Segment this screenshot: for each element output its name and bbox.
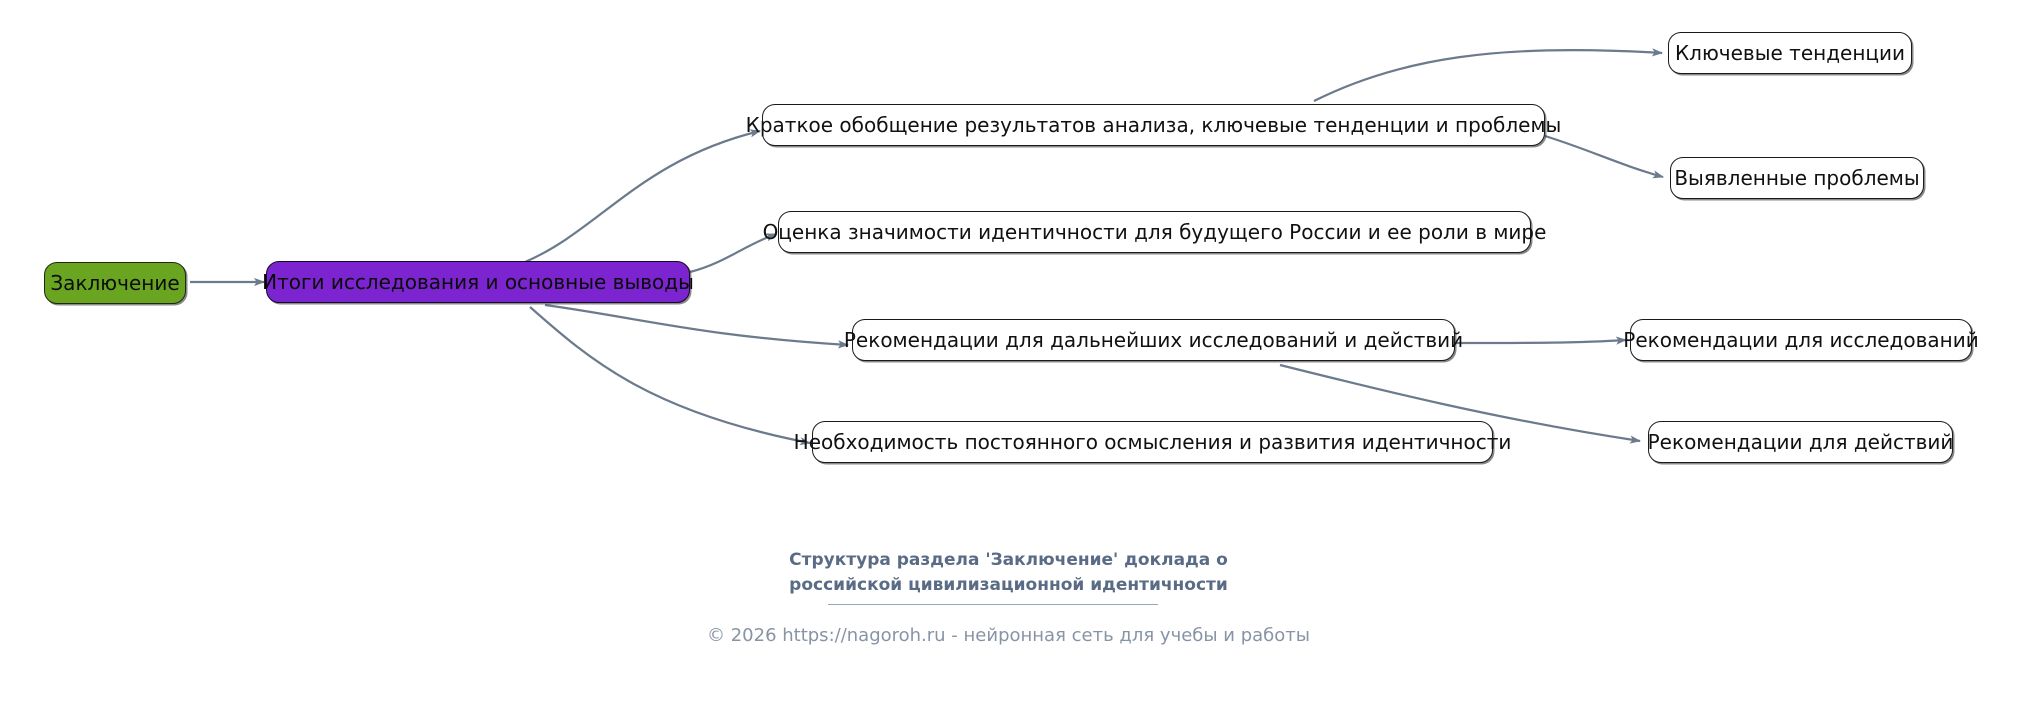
node-rekomendacii-issledovaniy[interactable]: Рекомендации для исследований [1630,319,1972,361]
diagram-caption: Структура раздела 'Заключение' доклада о… [0,548,2017,597]
node-root-zaklyuchenie[interactable]: Заключение [44,262,186,304]
node-vyyavlennye-problemy[interactable]: Выявленные проблемы [1670,157,1924,199]
node-label: Ключевые тенденции [1675,43,1905,63]
edge-b1-to-c2 [1545,136,1663,177]
node-label: Заключение [50,273,179,293]
node-kratkoe-obobshchenie[interactable]: Краткое обобщение результатов анализа, к… [762,104,1545,146]
edge-main-to-b4 [530,307,810,443]
node-label: Оценка значимости идентичности для будущ… [763,222,1547,242]
node-main-itogi[interactable]: Итоги исследования и основные выводы [266,261,690,303]
node-label: Итоги исследования и основные выводы [262,272,694,292]
edge-main-to-b3 [545,305,848,345]
node-label: Рекомендации для исследований [1623,330,1978,350]
node-label: Необходимость постоянного осмысления и р… [794,432,1512,452]
caption-line-2: российской цивилизационной идентичности [0,573,2017,598]
edge-b3-to-c3 [1455,340,1626,343]
node-label: Выявленные проблемы [1674,168,1919,188]
node-klyuchevye-tendencii[interactable]: Ключевые тенденции [1668,32,1912,74]
node-rekomendacii-dalneyshih[interactable]: Рекомендации для дальнейших исследований… [852,319,1455,361]
caption-line-1: Структура раздела 'Заключение' доклада о [0,548,2017,573]
caption-divider [828,604,1158,605]
node-ocenka-znachimosti[interactable]: Оценка значимости идентичности для будущ… [778,211,1531,253]
diagram-canvas: Заключение Итоги исследования и основные… [0,0,2017,720]
node-label: Рекомендации для дальнейших исследований… [844,330,1463,350]
node-rekomendacii-deystviy[interactable]: Рекомендации для действий [1648,421,1953,463]
edge-b1-to-c1 [1314,50,1662,101]
node-neobhodimost-osmysleniya[interactable]: Необходимость постоянного осмысления и р… [812,421,1493,463]
copyright-line: © 2026 https://nagoroh.ru - нейронная се… [0,625,2017,646]
edge-main-to-b1 [525,131,760,262]
node-label: Рекомендации для действий [1648,432,1954,452]
node-label: Краткое обобщение результатов анализа, к… [746,115,1562,135]
